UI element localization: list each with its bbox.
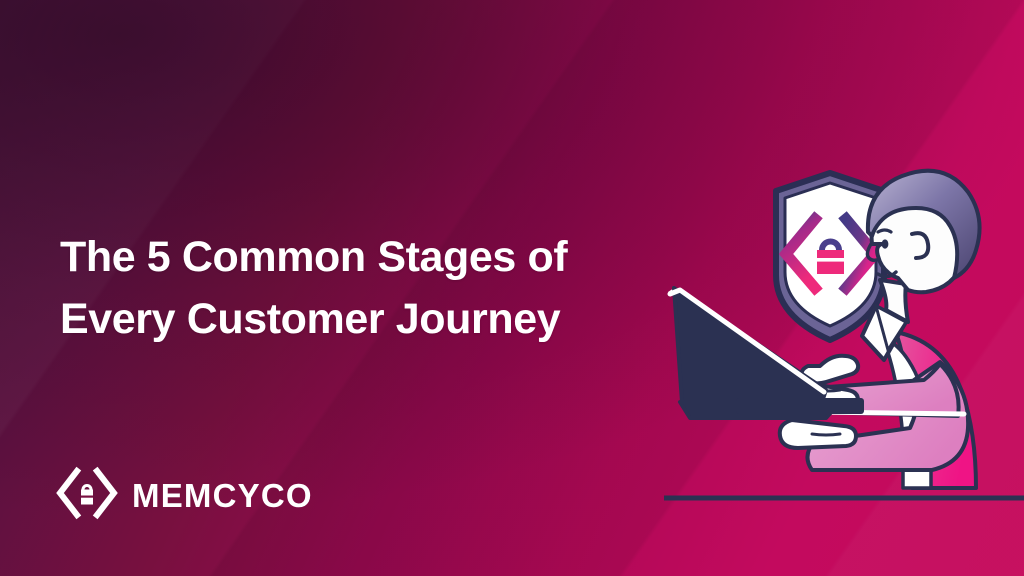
brand-wordmark: MEMCYCO	[132, 477, 313, 515]
page-title-line-2: Every Customer Journey	[60, 288, 620, 350]
hero-illustration	[640, 140, 1024, 540]
page-title-line-1: The 5 Common Stages of	[60, 226, 620, 288]
memcyco-bracket-lock-logo-icon	[56, 462, 118, 529]
lock-body	[817, 250, 844, 274]
page-title: The 5 Common Stages of Every Customer Jo…	[60, 226, 620, 350]
blog-banner: The 5 Common Stages of Every Customer Jo…	[0, 0, 1024, 576]
eye	[882, 239, 889, 248]
brand-logo[interactable]: MEMCYCO	[56, 462, 313, 529]
